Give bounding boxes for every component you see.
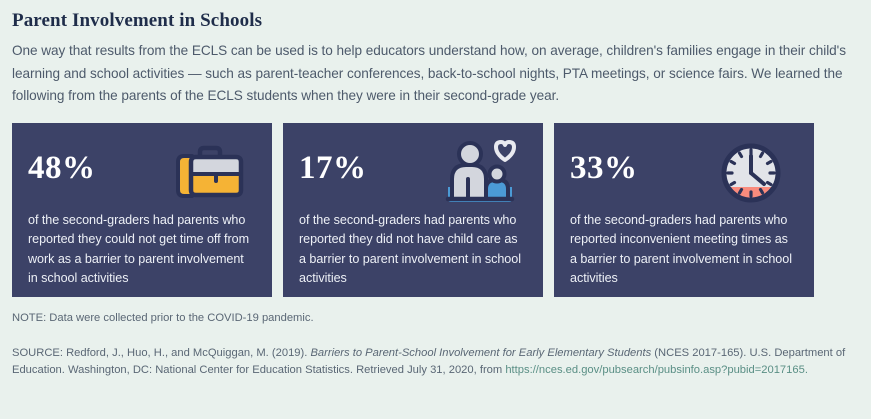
stat-description: of the second-graders had parents who re… [570,211,798,289]
stat-description: of the second-graders had parents who re… [28,211,256,289]
note-text: NOTE: Data were collected prior to the C… [12,310,859,326]
stat-card-header: 17% [299,137,527,209]
stat-card-header: 33% [570,137,798,209]
stat-card-meeting-times: 33% [554,123,814,297]
stat-percent: 48% [28,137,96,199]
briefcase-icon [170,137,248,209]
stat-card-work: 48% [12,123,272,297]
stat-percent: 17% [299,137,367,199]
source-publication-title: Barriers to Parent-School Involvement fo… [310,347,651,359]
source-lead: SOURCE: Redford, J., Huo, H., and McQuig… [12,347,310,359]
parent-child-icon [441,137,519,209]
stat-description: of the second-graders had parents who re… [299,211,527,289]
stat-card-list: 48% [12,123,859,297]
clock-icon [712,137,790,209]
source-text: SOURCE: Redford, J., Huo, H., and McQuig… [12,345,859,380]
page-title: Parent Involvement in Schools [12,10,859,32]
stat-percent: 33% [570,137,638,199]
source-url-link[interactable]: https://nces.ed.gov/pubsearch/pubsinfo.a… [505,364,808,376]
stat-card-header: 48% [28,137,256,209]
stat-card-childcare: 17% [283,123,543,297]
infographic-page: Parent Involvement in Schools One way th… [0,0,871,419]
intro-paragraph: One way that results from the ECLS can b… [12,40,859,108]
